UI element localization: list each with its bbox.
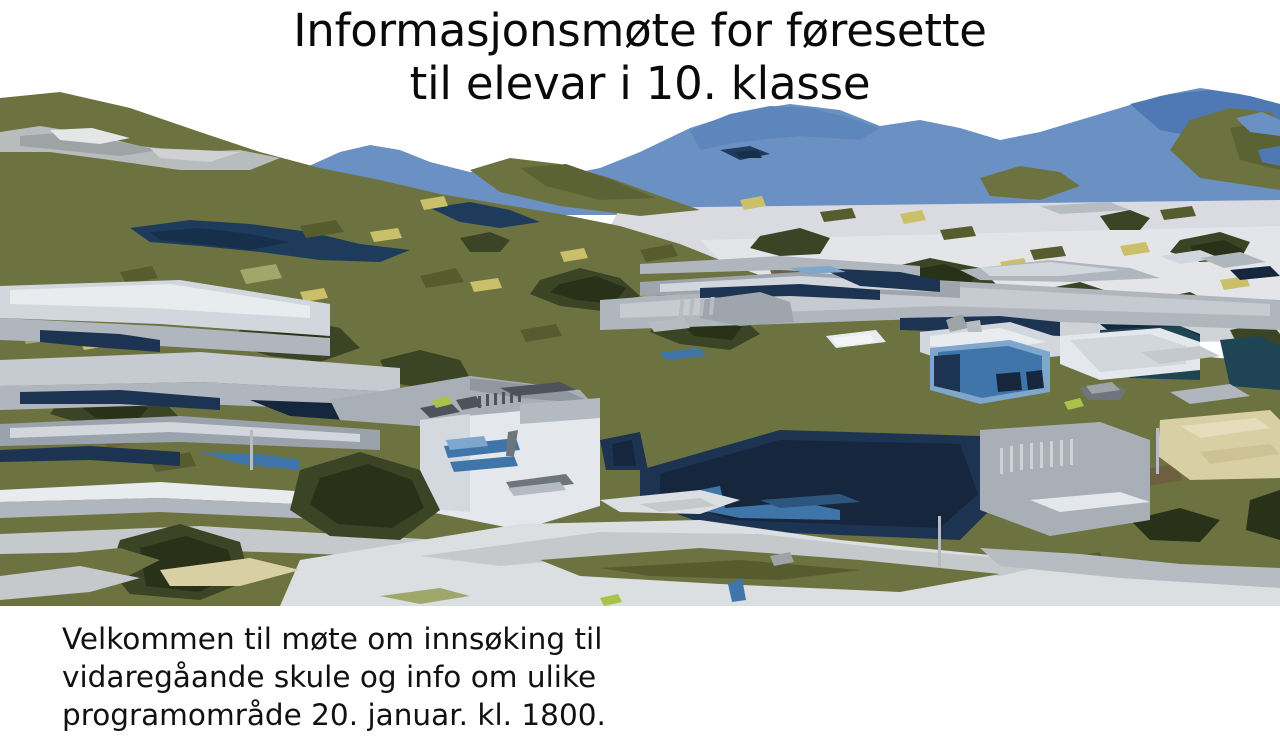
poster-footer: Velkommen til møte om innsøking til vida… [0, 606, 1280, 755]
campus-photo [0, 0, 1280, 606]
footer-line-1: Velkommen til møte om innsøking til [62, 620, 702, 658]
campus-photo-artwork [0, 0, 1280, 606]
poster-canvas: Informasjonsmøte for føresette til eleva… [0, 0, 1280, 755]
footer-message: Velkommen til møte om innsøking til vida… [62, 620, 702, 734]
footer-line-2: vidaregåande skule og info om ulike [62, 658, 702, 696]
footer-line-3: programområde 20. januar. kl. 1800. [62, 696, 702, 734]
